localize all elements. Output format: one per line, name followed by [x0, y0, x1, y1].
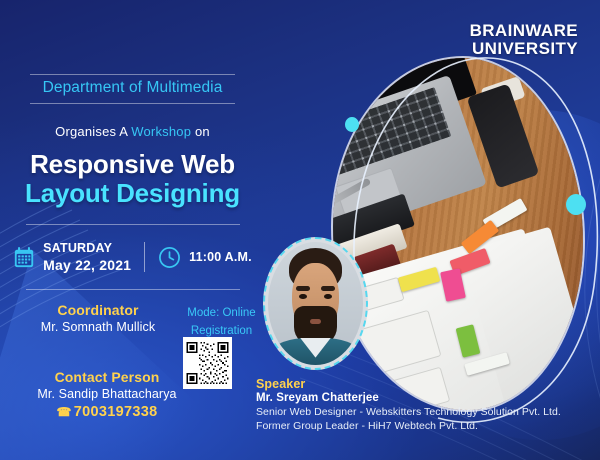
speaker-role-1: Senior Web Designer - Webskitters Techno…: [256, 406, 596, 418]
logo-line-1: BRAINWARE: [470, 22, 578, 40]
avatar-lips: [310, 319, 321, 324]
speaker-avatar: [263, 237, 368, 370]
accent-dot-right: [566, 194, 586, 215]
divider-under-department: [30, 103, 235, 104]
divider-above-date: [26, 224, 240, 225]
mode-line-1: Mode: Online: [178, 305, 265, 323]
workshop-title: Responsive Web Layout Designing: [0, 150, 265, 208]
left-content-column: Department of Multimedia Organises A Wor…: [0, 0, 265, 460]
workshop-title-line-2: Layout Designing: [0, 179, 265, 208]
speaker-name: Mr. Sreyam Chatterjee: [256, 392, 596, 404]
mode-block: Mode: Online Registration: [178, 302, 265, 341]
avatar-brow-left: [296, 286, 310, 291]
coordinator-name: Mr. Somnath Mullick: [18, 320, 178, 334]
desk-scene: [333, 58, 583, 410]
contact-name: Mr. Sandip Bhattacharya: [18, 387, 196, 401]
avatar-eye-right: [324, 294, 332, 299]
avatar-brow-right: [321, 286, 335, 291]
event-time: 11:00 A.M.: [189, 250, 252, 264]
speaker-role-2: Former Group Leader - HiH7 Webtech Pvt. …: [256, 420, 596, 432]
department-title: Department of Multimedia: [0, 75, 265, 99]
workshop-title-line-1: Responsive Web: [0, 150, 265, 179]
date-time-separator: [144, 242, 145, 272]
workshop-desk-photo: [333, 58, 583, 410]
logo-line-2: UNIVERSITY: [470, 40, 578, 58]
avatar-photo: [268, 242, 363, 365]
speaker-details: Speaker Mr. Sreyam Chatterjee Senior Web…: [256, 377, 596, 432]
accent-dot-upper: [345, 117, 359, 132]
divider-below-date: [26, 289, 240, 290]
coordinator-heading: Coordinator: [18, 302, 178, 318]
avatar-eye-left: [299, 294, 307, 299]
organises-pre: Organises A: [55, 124, 131, 139]
coordinator-block: Coordinator Mr. Somnath Mullick: [18, 302, 178, 341]
contact-phone-row[interactable]: ☎7003197338: [18, 404, 196, 420]
qr-code-image: [185, 339, 230, 387]
speaker-label: Speaker: [256, 377, 596, 391]
day-of-week: SATURDAY: [43, 241, 112, 255]
coordinator-mode-grid: Coordinator Mr. Somnath Mullick Mode: On…: [0, 302, 265, 341]
date-time-row: SATURDAY May 22, 2021 11:00 A.M.: [0, 239, 265, 275]
calendar-icon: [13, 246, 35, 269]
date-block: SATURDAY May 22, 2021: [43, 239, 131, 275]
contact-phone: 7003197338: [74, 404, 158, 420]
contact-heading: Contact Person: [18, 369, 196, 385]
registration-qr-code[interactable]: [183, 337, 232, 389]
organises-line: Organises A Workshop on: [0, 124, 265, 139]
event-date: May 22, 2021: [43, 257, 131, 273]
organises-highlight: Workshop: [131, 124, 191, 139]
organises-post: on: [191, 124, 210, 139]
contact-block: Contact Person Mr. Sandip Bhattacharya ☎…: [18, 369, 196, 420]
brainware-university-logo: BRAINWARE UNIVERSITY: [470, 22, 578, 57]
phone-icon: ☎: [57, 405, 72, 419]
clock-icon: [158, 246, 181, 269]
workshop-poster: BRAINWARE UNIVERSITY: [0, 0, 600, 460]
